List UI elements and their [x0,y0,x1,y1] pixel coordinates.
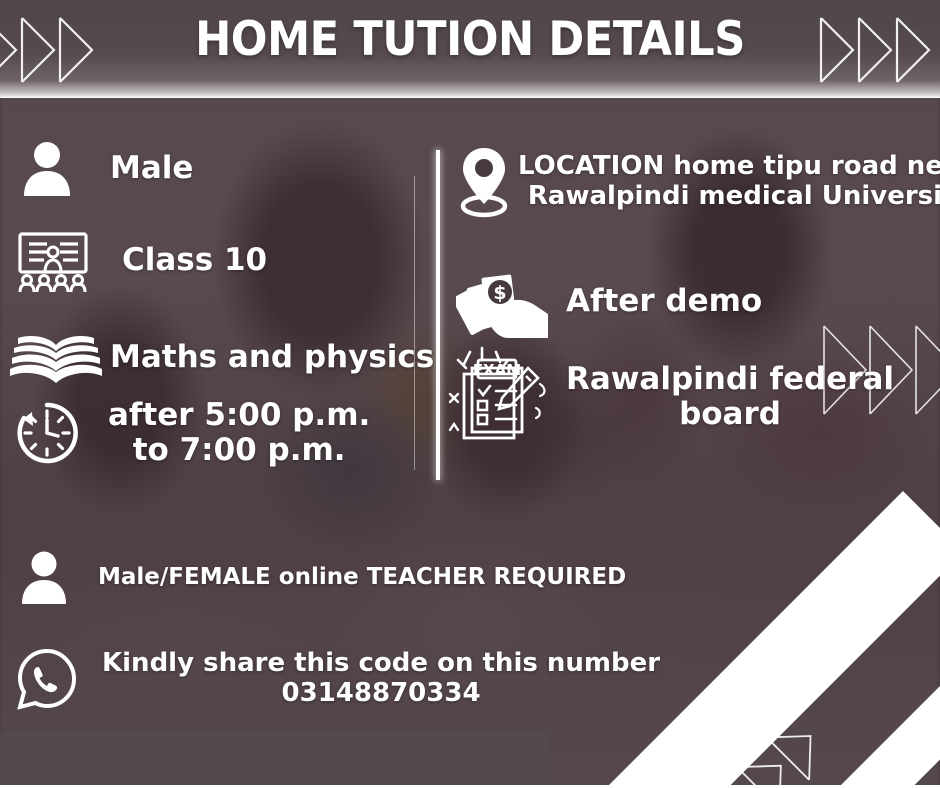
exam-badge-text: EXAM [473,361,521,379]
board-line-2: board [566,397,894,432]
timing-line-2: to 7:00 p.m. [108,433,370,468]
person-icon [16,548,72,606]
location-pin-icon [454,144,514,220]
detail-label-board: Rawalpindi federal board [566,362,894,433]
page-title: HOME TUTION DETAILS [38,12,903,67]
detail-row-teacher-required: Male/FEMALE online TEACHER REQUIRED [16,548,626,606]
classroom-icon [14,230,92,292]
detail-label-timing: after 5:00 p.m. to 7:00 p.m. [108,398,370,469]
detail-row-gender: Male [16,138,193,200]
detail-label-location: LOCATION home tipu road near Rawalpindi … [518,152,940,211]
board-line-1: Rawalpindi federal [566,362,894,397]
detail-label-subject: Maths and physics [110,340,434,375]
detail-row-contact: Kindly share this code on this number 03… [14,646,660,712]
detail-label-contact: Kindly share this code on this number 03… [102,649,660,708]
column-divider-bright [436,150,440,480]
chevron-right-arrows-icon [819,14,940,86]
detail-row-timing: after 5:00 p.m. to 7:00 p.m. [12,398,370,469]
clock-icon [12,398,82,468]
whatsapp-icon [14,646,80,712]
timing-line-1: after 5:00 p.m. [108,398,370,433]
exam-clipboard-icon: EXAM [442,346,554,448]
detail-label-class: Class 10 [122,243,267,278]
location-line-2: Rawalpindi medical University [526,182,940,212]
contact-phone-number[interactable]: 03148870334 [102,679,660,709]
location-line-1: LOCATION home tipu road near [518,152,940,182]
open-book-icon [10,331,102,385]
poster-canvas: HOME TUTION DETAILS [0,0,940,788]
detail-label-payment: After demo [566,284,762,319]
header-banner: HOME TUTION DETAILS [0,0,940,98]
contact-line-1: Kindly share this code on this number [102,649,660,679]
money-hand-icon: $ [456,262,552,342]
detail-row-payment: $ After demo [456,262,762,342]
detail-label-gender: Male [110,151,193,186]
person-icon [16,138,78,200]
detail-row-board: EXAM [442,346,894,448]
footer-strip [0,732,548,788]
detail-row-class: Class 10 [14,230,267,292]
detail-label-teacher-required: Male/FEMALE online TEACHER REQUIRED [98,564,626,590]
svg-text:$: $ [493,282,506,304]
column-divider-thin [414,176,415,470]
detail-row-location: LOCATION home tipu road near Rawalpindi … [454,144,940,220]
detail-row-subject: Maths and physics [10,331,434,385]
